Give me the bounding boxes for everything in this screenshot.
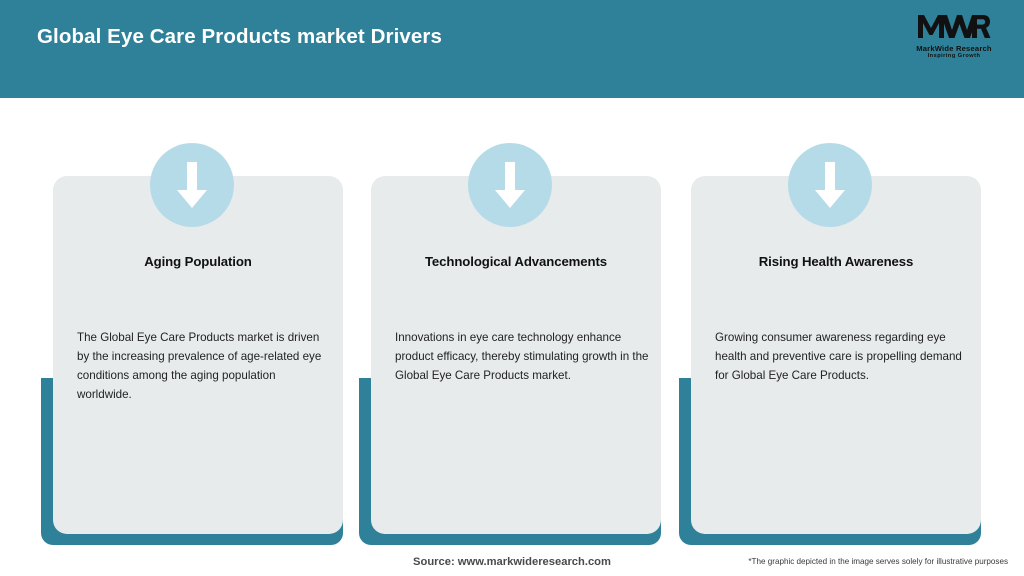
drivers-card-row: Aging Population The Global Eye Care Pro… (0, 98, 1024, 576)
header-band: Global Eye Care Products market Drivers … (0, 0, 1024, 98)
card-body-text: The Global Eye Care Products market is d… (77, 328, 327, 405)
down-arrow-icon (788, 143, 872, 227)
markwide-research-logo: MarkWide Research Inspiring Growth (902, 10, 1006, 62)
card-surface: Aging Population The Global Eye Care Pro… (53, 176, 343, 534)
card-body-text: Growing consumer awareness regarding eye… (715, 328, 977, 385)
logo-company-name: MarkWide Research (916, 45, 992, 53)
card-surface: Technological Advancements Innovations i… (371, 176, 661, 534)
page-title: Global Eye Care Products market Drivers (37, 25, 442, 49)
card-title: Aging Population (53, 254, 343, 269)
logo-tagline: Inspiring Growth (928, 54, 981, 60)
disclaimer-label: *The graphic depicted in the image serve… (748, 557, 1008, 566)
down-arrow-icon (468, 143, 552, 227)
card-title: Rising Health Awareness (691, 254, 981, 269)
mwr-monogram-icon (917, 13, 991, 44)
driver-card[interactable]: Aging Population The Global Eye Care Pro… (41, 98, 343, 558)
driver-card[interactable]: Technological Advancements Innovations i… (359, 98, 661, 558)
card-body-text: Innovations in eye care technology enhan… (395, 328, 660, 385)
card-title: Technological Advancements (371, 254, 661, 269)
down-arrow-icon (150, 143, 234, 227)
card-surface: Rising Health Awareness Growing consumer… (691, 176, 981, 534)
driver-card[interactable]: Rising Health Awareness Growing consumer… (679, 98, 981, 558)
